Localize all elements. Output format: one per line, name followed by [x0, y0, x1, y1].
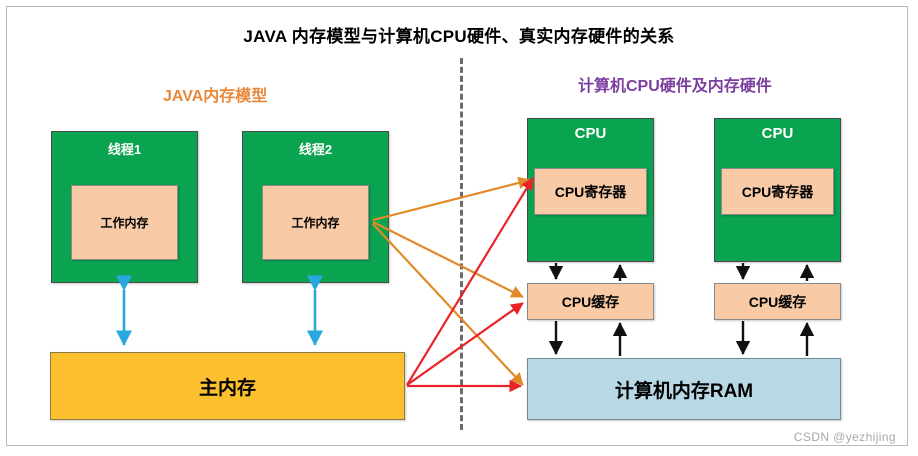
thread-2-working-memory-label: 工作内存 — [291, 214, 339, 231]
cpu-2-cache-label: CPU缓存 — [749, 292, 807, 312]
section-label-hardware: 计算机CPU硬件及内存硬件 — [578, 72, 772, 96]
section-divider — [460, 58, 463, 430]
main-memory-box: 主内存 — [50, 352, 405, 420]
cpu-1-title: CPU — [575, 125, 607, 142]
cpu-1-register: CPU寄存器 — [534, 168, 647, 215]
cpu-2-title: CPU — [762, 125, 794, 142]
section-label-java-memory-model: JAVA内存模型 — [163, 82, 267, 106]
main-memory-label: 主内存 — [199, 373, 256, 400]
cpu-2-register: CPU寄存器 — [721, 168, 834, 215]
ram-box: 计算机内存RAM — [527, 358, 841, 420]
ram-label: 计算机内存RAM — [615, 376, 753, 403]
thread-1-title: 线程1 — [108, 139, 141, 158]
watermark: CSDN @yezhijing — [794, 430, 896, 444]
cpu-1-cache: CPU缓存 — [527, 283, 654, 320]
cpu-1-cache-label: CPU缓存 — [562, 292, 620, 312]
thread-2-title: 线程2 — [299, 139, 332, 158]
cpu-2-register-label: CPU寄存器 — [742, 182, 814, 202]
thread-1-working-memory-label: 工作内存 — [100, 214, 148, 231]
cpu-2-cache: CPU缓存 — [714, 283, 841, 320]
diagram-canvas: JAVA 内存模型与计算机CPU硬件、真实内存硬件的关系 JAVA内存模型 计算… — [0, 0, 918, 456]
thread-2-working-memory: 工作内存 — [262, 185, 369, 260]
cpu-1-register-label: CPU寄存器 — [555, 182, 627, 202]
page-title: JAVA 内存模型与计算机CPU硬件、真实内存硬件的关系 — [0, 22, 918, 47]
thread-1-working-memory: 工作内存 — [71, 185, 178, 260]
